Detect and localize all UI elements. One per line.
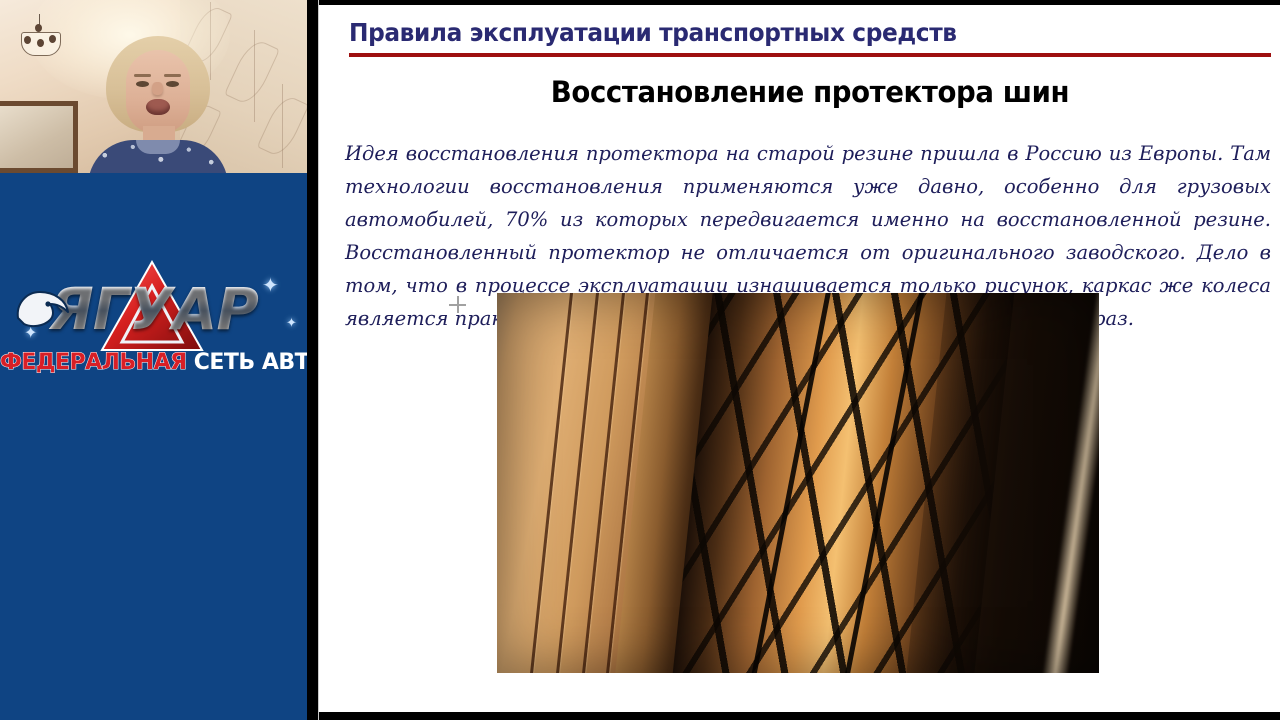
logo-subtitle: ФЕДЕРАЛЬНАЯ СЕТЬ АВТОШКОЛ: [0, 350, 307, 375]
page-title: Восстановление протектора шин: [372, 75, 1248, 109]
chandelier-bulb: [24, 36, 31, 44]
chandelier-icon: [18, 14, 62, 54]
crosshair-cursor: [449, 296, 466, 313]
eyebrow-left: [134, 74, 151, 77]
instructor-webcam-feed[interactable]: [0, 0, 307, 173]
chandelier-bulb: [37, 39, 44, 47]
instructor-portrait: [88, 36, 228, 173]
panel-divider: [307, 0, 318, 720]
mouth: [146, 99, 170, 115]
photo-vignette: [497, 293, 1099, 673]
slide-header-title: Правила эксплуатации транспортных средст…: [349, 18, 1186, 47]
tire-tread-closeup-photo: [497, 293, 1099, 673]
nose: [152, 82, 163, 95]
eyebrow-right: [164, 74, 181, 77]
chandelier-bulb: [49, 35, 56, 43]
presentation-slide: Правила эксплуатации транспортных средст…: [318, 0, 1280, 720]
jaguar-head-icon: [14, 288, 70, 334]
screen-root: ✦ ✦ ✦ ЯГУАР ФЕДЕРАЛЬНАЯ С: [0, 0, 1280, 720]
wallpaper-stem: [282, 84, 283, 168]
slide-content-area: Правила эксплуатации транспортных средст…: [319, 5, 1280, 712]
mirror-glass: [0, 106, 73, 168]
wooden-mirror-frame: [0, 101, 78, 173]
slide-bottom-letterbox: [319, 712, 1280, 720]
wallpaper-floral-motif: [224, 36, 280, 108]
logo-subtitle-white: СЕТЬ АВТОШКОЛ: [194, 350, 307, 375]
left-panel: ✦ ✦ ✦ ЯГУАР ФЕДЕРАЛЬНАЯ С: [0, 0, 307, 720]
chandelier-bulb: [35, 24, 42, 32]
jaguar-driving-school-logo: ✦ ✦ ✦ ЯГУАР ФЕДЕРАЛЬНАЯ С: [0, 250, 307, 390]
wallpaper-stem: [254, 30, 255, 122]
eye-right: [166, 81, 179, 87]
logo-subtitle-red: ФЕДЕРАЛЬНАЯ: [0, 350, 187, 375]
header-rule-divider: [349, 53, 1271, 57]
eye-left: [136, 81, 149, 87]
